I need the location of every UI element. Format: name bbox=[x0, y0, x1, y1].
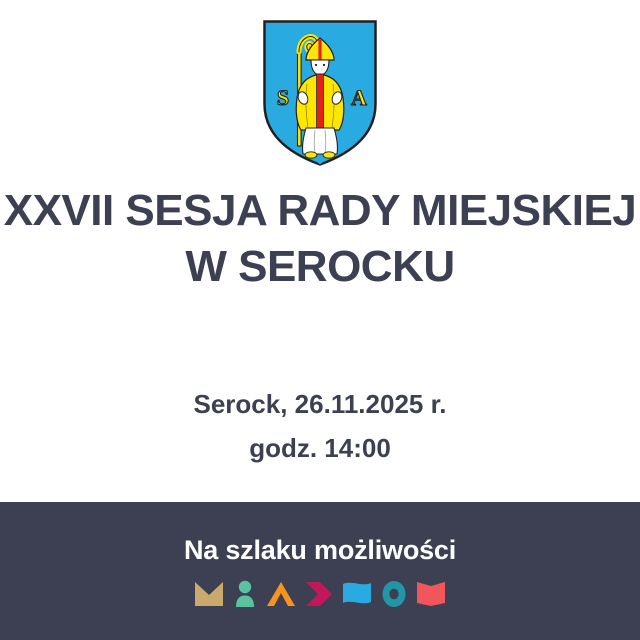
crest-letter-left: S bbox=[277, 85, 289, 110]
person-icon bbox=[233, 580, 257, 608]
page-title: XXVII SESJA RADY MIEJSKIEJ W SEROCKU bbox=[0, 183, 640, 296]
envelope-icon bbox=[194, 581, 224, 607]
event-time: godz. 14:00 bbox=[0, 426, 640, 471]
title-line-2: W SEROCKU bbox=[0, 239, 640, 295]
ring-icon bbox=[381, 580, 407, 608]
footer-slogan: Na szlaku możliwości bbox=[184, 535, 456, 566]
crest-letter-right: A bbox=[351, 85, 367, 110]
coat-of-arms-icon: S A bbox=[263, 20, 377, 166]
chevron-up-icon bbox=[266, 581, 296, 607]
arrow-right-icon bbox=[305, 581, 333, 607]
event-date: Serock, 26.11.2025 r. bbox=[0, 382, 640, 427]
book-icon bbox=[416, 581, 446, 607]
brand-icon-row bbox=[194, 580, 446, 608]
flag-icon bbox=[342, 581, 372, 607]
event-datetime: Serock, 26.11.2025 r. godz. 14:00 bbox=[0, 382, 640, 471]
poster: S A XXVII SESJA RADY MIEJSKIEJ W SEROCKU… bbox=[0, 0, 640, 640]
title-line-1: XXVII SESJA RADY MIEJSKIEJ bbox=[0, 183, 640, 239]
footer-banner: Na szlaku możliwości bbox=[0, 502, 640, 640]
crest-area: S A bbox=[0, 0, 640, 175]
